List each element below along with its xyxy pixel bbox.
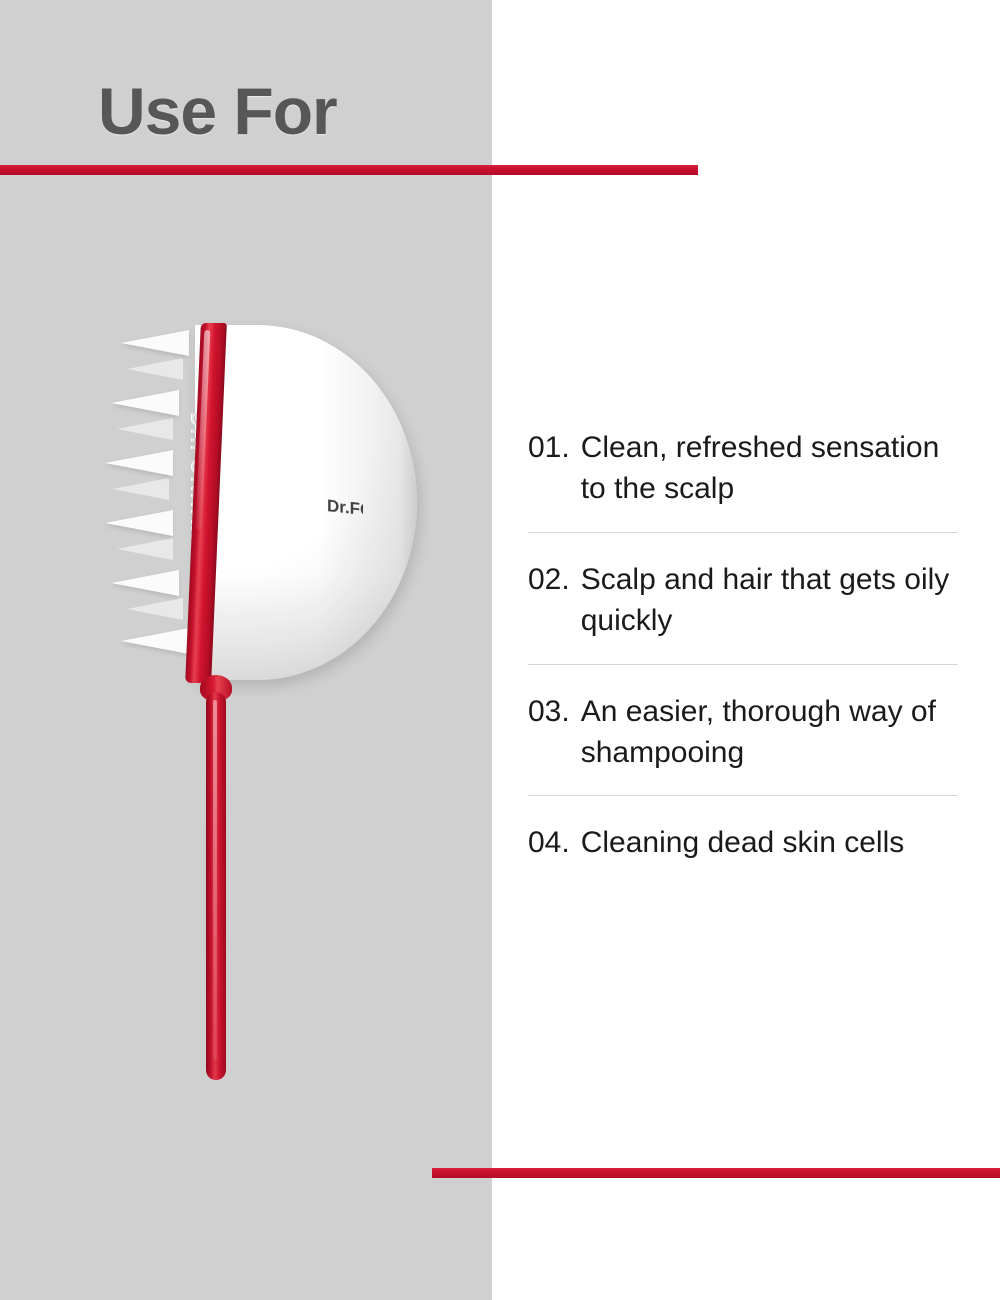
list-item-text: Clean, refreshed sensation to the scalp: [581, 427, 958, 510]
benefits-list: 01. Clean, refreshed sensation to the sc…: [528, 418, 958, 886]
brush-printed-logo: Dr.FORHAIR: [327, 496, 363, 520]
product-image-scalp-brush: Dr.FORHAIR Dr.FORHAIR: [105, 320, 405, 1090]
list-item: 03. An easier, thorough way of shampooin…: [528, 664, 958, 796]
use-for-infographic: Use For Dr.FORHAIR Dr.FORHAIR 01. Clea: [0, 0, 1000, 1300]
brush-tooth-back: [113, 478, 169, 500]
bottom-red-rule: [432, 1168, 1000, 1178]
brush-strap-highlight: [213, 700, 217, 1060]
list-item: 01. Clean, refreshed sensation to the sc…: [528, 418, 958, 532]
brush-tooth: [121, 330, 189, 356]
brush-tooth: [105, 510, 173, 536]
brush-tooth: [111, 390, 179, 416]
list-item-number: 03.: [528, 691, 581, 732]
list-item-number: 04.: [528, 822, 581, 863]
brush-tooth-back: [127, 358, 183, 380]
brush-tooth-back: [117, 538, 173, 560]
list-item-text: Scalp and hair that gets oily quickly: [581, 559, 958, 642]
brush-tooth: [105, 450, 173, 476]
brush-tooth: [111, 570, 179, 596]
list-item: 04. Cleaning dead skin cells: [528, 795, 958, 885]
list-item: 02. Scalp and hair that gets oily quickl…: [528, 532, 958, 664]
list-item-text: An easier, thorough way of shampooing: [581, 691, 958, 774]
brush-tooth: [121, 628, 189, 654]
list-item-number: 02.: [528, 559, 581, 600]
list-item-number: 01.: [528, 427, 581, 468]
brush-tooth-back: [127, 598, 183, 620]
page-title: Use For: [98, 78, 337, 144]
brush-body-shading: [195, 325, 417, 680]
top-red-rule: [0, 165, 698, 175]
list-item-text: Cleaning dead skin cells: [581, 822, 958, 863]
brush-tooth-back: [117, 418, 173, 440]
